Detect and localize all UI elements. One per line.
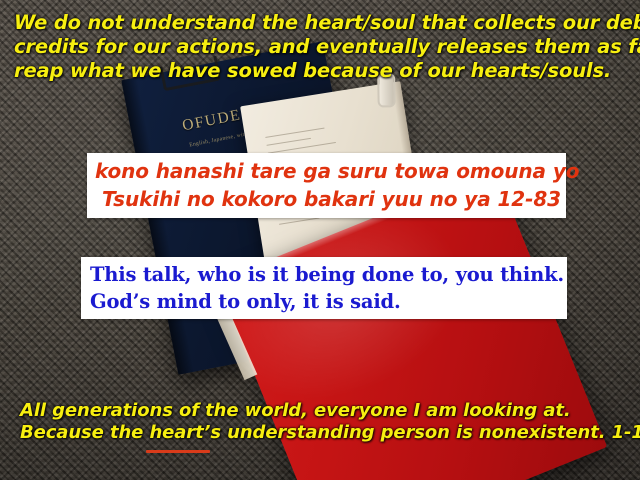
top-caption-line-3: reap what we have sowed because of our h… [14,59,640,83]
romaji-line-1: kono hanashi tare ga suru towa omouna yo [95,158,566,186]
top-caption-line-1: We do not understand the heart/soul that… [14,11,640,35]
english-line-2: God’s mind to only, it is said. [90,288,567,315]
heart-underline [146,450,210,453]
top-caption: We do not understand the heart/soul that… [14,11,640,84]
english-text-box: This talk, who is it being done to, you … [81,257,567,319]
top-caption-line-2: credits for our actions, and eventually … [14,35,640,59]
english-line-1: This talk, who is it being done to, you … [90,261,567,288]
slide-canvas: OFUDESAKI English, Japanese, with Romani… [0,0,640,480]
bottom-caption-line-2: Because the heart’s understanding person… [20,422,640,444]
romaji-line-2: Tsukihi no kokoro bakari yuu no ya 12-83 [95,186,566,214]
romaji-text-box: kono hanashi tare ga suru towa omouna yo… [87,153,566,218]
bottom-caption: All generations of the world, everyone I… [20,400,640,445]
bottom-caption-line-1: All generations of the world, everyone I… [20,400,640,422]
